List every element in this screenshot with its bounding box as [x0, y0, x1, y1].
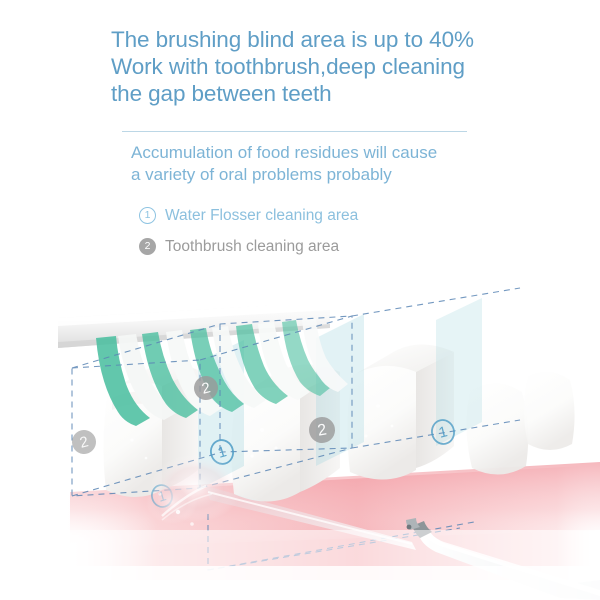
legend: 1 Water Flosser cleaning area 2 Toothbru… [139, 200, 358, 262]
teeth-cleaning-illustration: 2 2 2 1 1 [0, 280, 600, 600]
tooth-back-row [466, 372, 574, 475]
divider [122, 131, 467, 132]
legend-item-label: Toothbrush cleaning area [165, 238, 339, 256]
badge-1-icon: 1 [139, 207, 156, 224]
product-infographic: The brushing blind area is up to 40% Wor… [0, 0, 600, 600]
legend-item-toothbrush: 2 Toothbrush cleaning area [139, 231, 358, 262]
legend-item-label: Water Flosser cleaning area [165, 207, 358, 225]
subtitle: Accumulation of food residues will cause… [131, 142, 531, 185]
badge-2-icon: 2 [139, 238, 156, 255]
legend-item-water-flosser: 1 Water Flosser cleaning area [139, 200, 358, 231]
page-title: The brushing blind area is up to 40% Wor… [111, 26, 531, 107]
